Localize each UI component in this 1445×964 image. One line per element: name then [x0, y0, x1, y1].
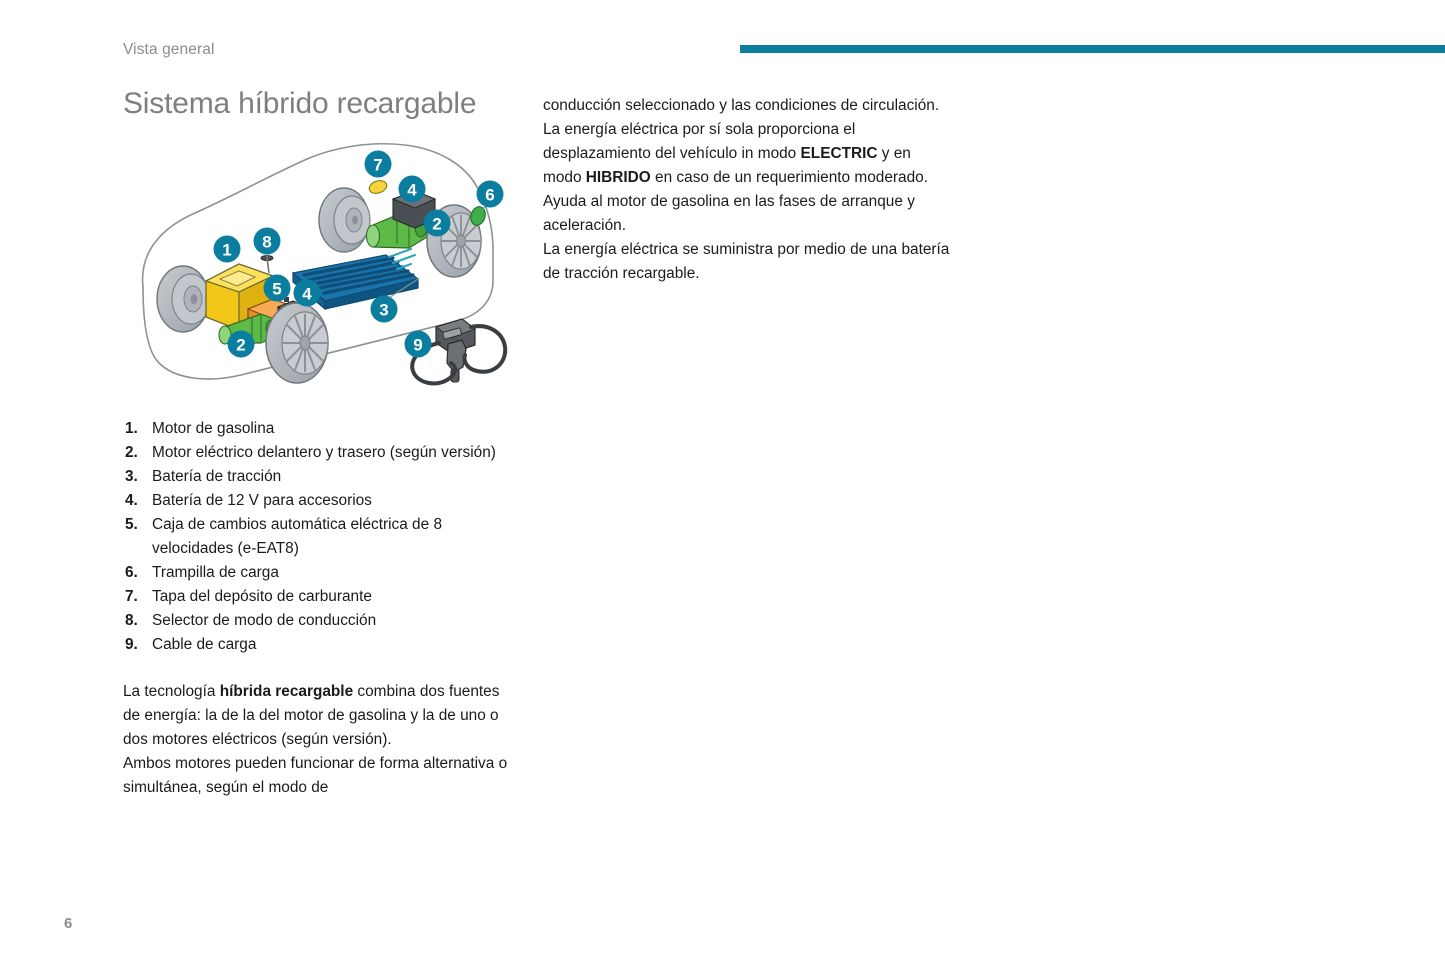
legend-item-label: Caja de cambios automática eléctrica de …: [152, 516, 442, 557]
legend-item-label: Selector de modo de conducción: [152, 612, 376, 629]
legend-item-label: Batería de 12 V para accesorios: [152, 492, 372, 509]
callout-badge-8: 8: [254, 228, 281, 255]
legend-item-number: 4.: [125, 489, 138, 513]
paragraph-text: conducción seleccionado y las condicione…: [543, 97, 939, 114]
legend-item: 6.Trampilla de carga: [123, 561, 515, 585]
legend-item-label: Motor de gasolina: [152, 420, 274, 437]
callout-badge-2-front: 2: [228, 331, 255, 358]
body-paragraph: conducción seleccionado y las condicione…: [543, 94, 953, 118]
legend-item: 3.Batería de tracción: [123, 465, 515, 489]
legend-item: 9.Cable de carga: [123, 633, 515, 657]
svg-text:9: 9: [413, 336, 422, 355]
legend-item-number: 3.: [125, 465, 138, 489]
callout-badge-4-front: 4: [294, 280, 321, 307]
svg-text:1: 1: [222, 241, 231, 260]
legend-item: 7.Tapa del depósito de carburante: [123, 585, 515, 609]
manual-page: Vista general Sistema híbrido recargable: [0, 0, 1445, 964]
legend-item-number: 7.: [125, 585, 138, 609]
legend-item: 5.Caja de cambios automática eléctrica d…: [123, 513, 515, 561]
callout-badge-3: 3: [371, 296, 398, 323]
legend-item: 4.Batería de 12 V para accesorios: [123, 489, 515, 513]
body-paragraph: Ambos motores pueden funcionar de forma …: [123, 752, 515, 800]
paragraph-text: La energía eléctrica se suministra por m…: [543, 241, 949, 282]
emphasis-text: ELECTRIC: [801, 145, 878, 162]
svg-text:2: 2: [236, 336, 245, 355]
legend-item-number: 1.: [125, 417, 138, 441]
body-paragraph: La energía eléctrica se suministra por m…: [543, 238, 953, 286]
paragraph-text: Ambos motores pueden funcionar de forma …: [123, 755, 507, 796]
callout-badge-2-rear: 2: [424, 210, 451, 237]
callout-badge-9: 9: [405, 331, 432, 358]
page-title: Sistema híbrido recargable: [123, 85, 515, 123]
front-right-wheel: [266, 303, 328, 383]
legend-item: 2.Motor eléctrico delantero y trasero (s…: [123, 441, 515, 465]
callout-badge-1: 1: [214, 236, 241, 263]
emphasis-text: HIBRIDO: [586, 169, 651, 186]
svg-text:3: 3: [379, 301, 388, 320]
legend-item-number: 5.: [125, 513, 138, 537]
figure-legend-list: 1.Motor de gasolina2.Motor eléctrico del…: [123, 417, 515, 657]
hybrid-vehicle-diagram: 1 8 5 4 2: [121, 131, 521, 399]
legend-item-number: 9.: [125, 633, 138, 657]
header-accent-rule: [740, 45, 1445, 53]
legend-item: 1.Motor de gasolina: [123, 417, 515, 441]
callout-badge-6: 6: [477, 181, 504, 208]
svg-text:8: 8: [262, 233, 271, 252]
right-column: conducción seleccionado y las condicione…: [543, 94, 953, 286]
legend-item-label: Motor eléctrico delantero y trasero (seg…: [152, 444, 496, 461]
body-paragraph: La energía eléctrica por sí sola proporc…: [543, 118, 953, 238]
running-head: Vista general: [123, 41, 215, 59]
svg-text:4: 4: [302, 285, 312, 304]
left-column-body: La tecnología híbrida recargable combina…: [123, 680, 515, 800]
legend-item: 8.Selector de modo de conducción: [123, 609, 515, 633]
drive-mode-selector: [261, 255, 273, 273]
svg-text:6: 6: [485, 186, 494, 205]
callout-badge-4-rear: 4: [399, 176, 426, 203]
svg-text:4: 4: [407, 181, 417, 200]
page-number: 6: [64, 915, 72, 932]
legend-item-label: Trampilla de carga: [152, 564, 279, 581]
paragraph-text: La tecnología: [123, 683, 220, 700]
callout-badge-7: 7: [365, 151, 392, 178]
front-left-wheel: [157, 266, 210, 332]
left-column: Sistema híbrido recargable: [123, 85, 515, 800]
legend-item-label: Cable de carga: [152, 636, 256, 653]
legend-item-number: 6.: [125, 561, 138, 585]
body-paragraph: La tecnología híbrida recargable combina…: [123, 680, 515, 752]
legend-item-label: Batería de tracción: [152, 468, 281, 485]
legend-item-number: 8.: [125, 609, 138, 633]
svg-text:5: 5: [272, 280, 281, 299]
emphasis-text: híbrida recargable: [220, 683, 353, 700]
legend-item-label: Tapa del depósito de carburante: [152, 588, 372, 605]
callout-badge-5: 5: [264, 275, 291, 302]
svg-text:7: 7: [373, 156, 382, 175]
svg-text:2: 2: [432, 215, 441, 234]
legend-item-number: 2.: [125, 441, 138, 465]
rear-left-wheel: [319, 188, 370, 252]
right-column-body: conducción seleccionado y las condicione…: [543, 94, 953, 286]
fuel-filler-cap: [368, 179, 389, 196]
